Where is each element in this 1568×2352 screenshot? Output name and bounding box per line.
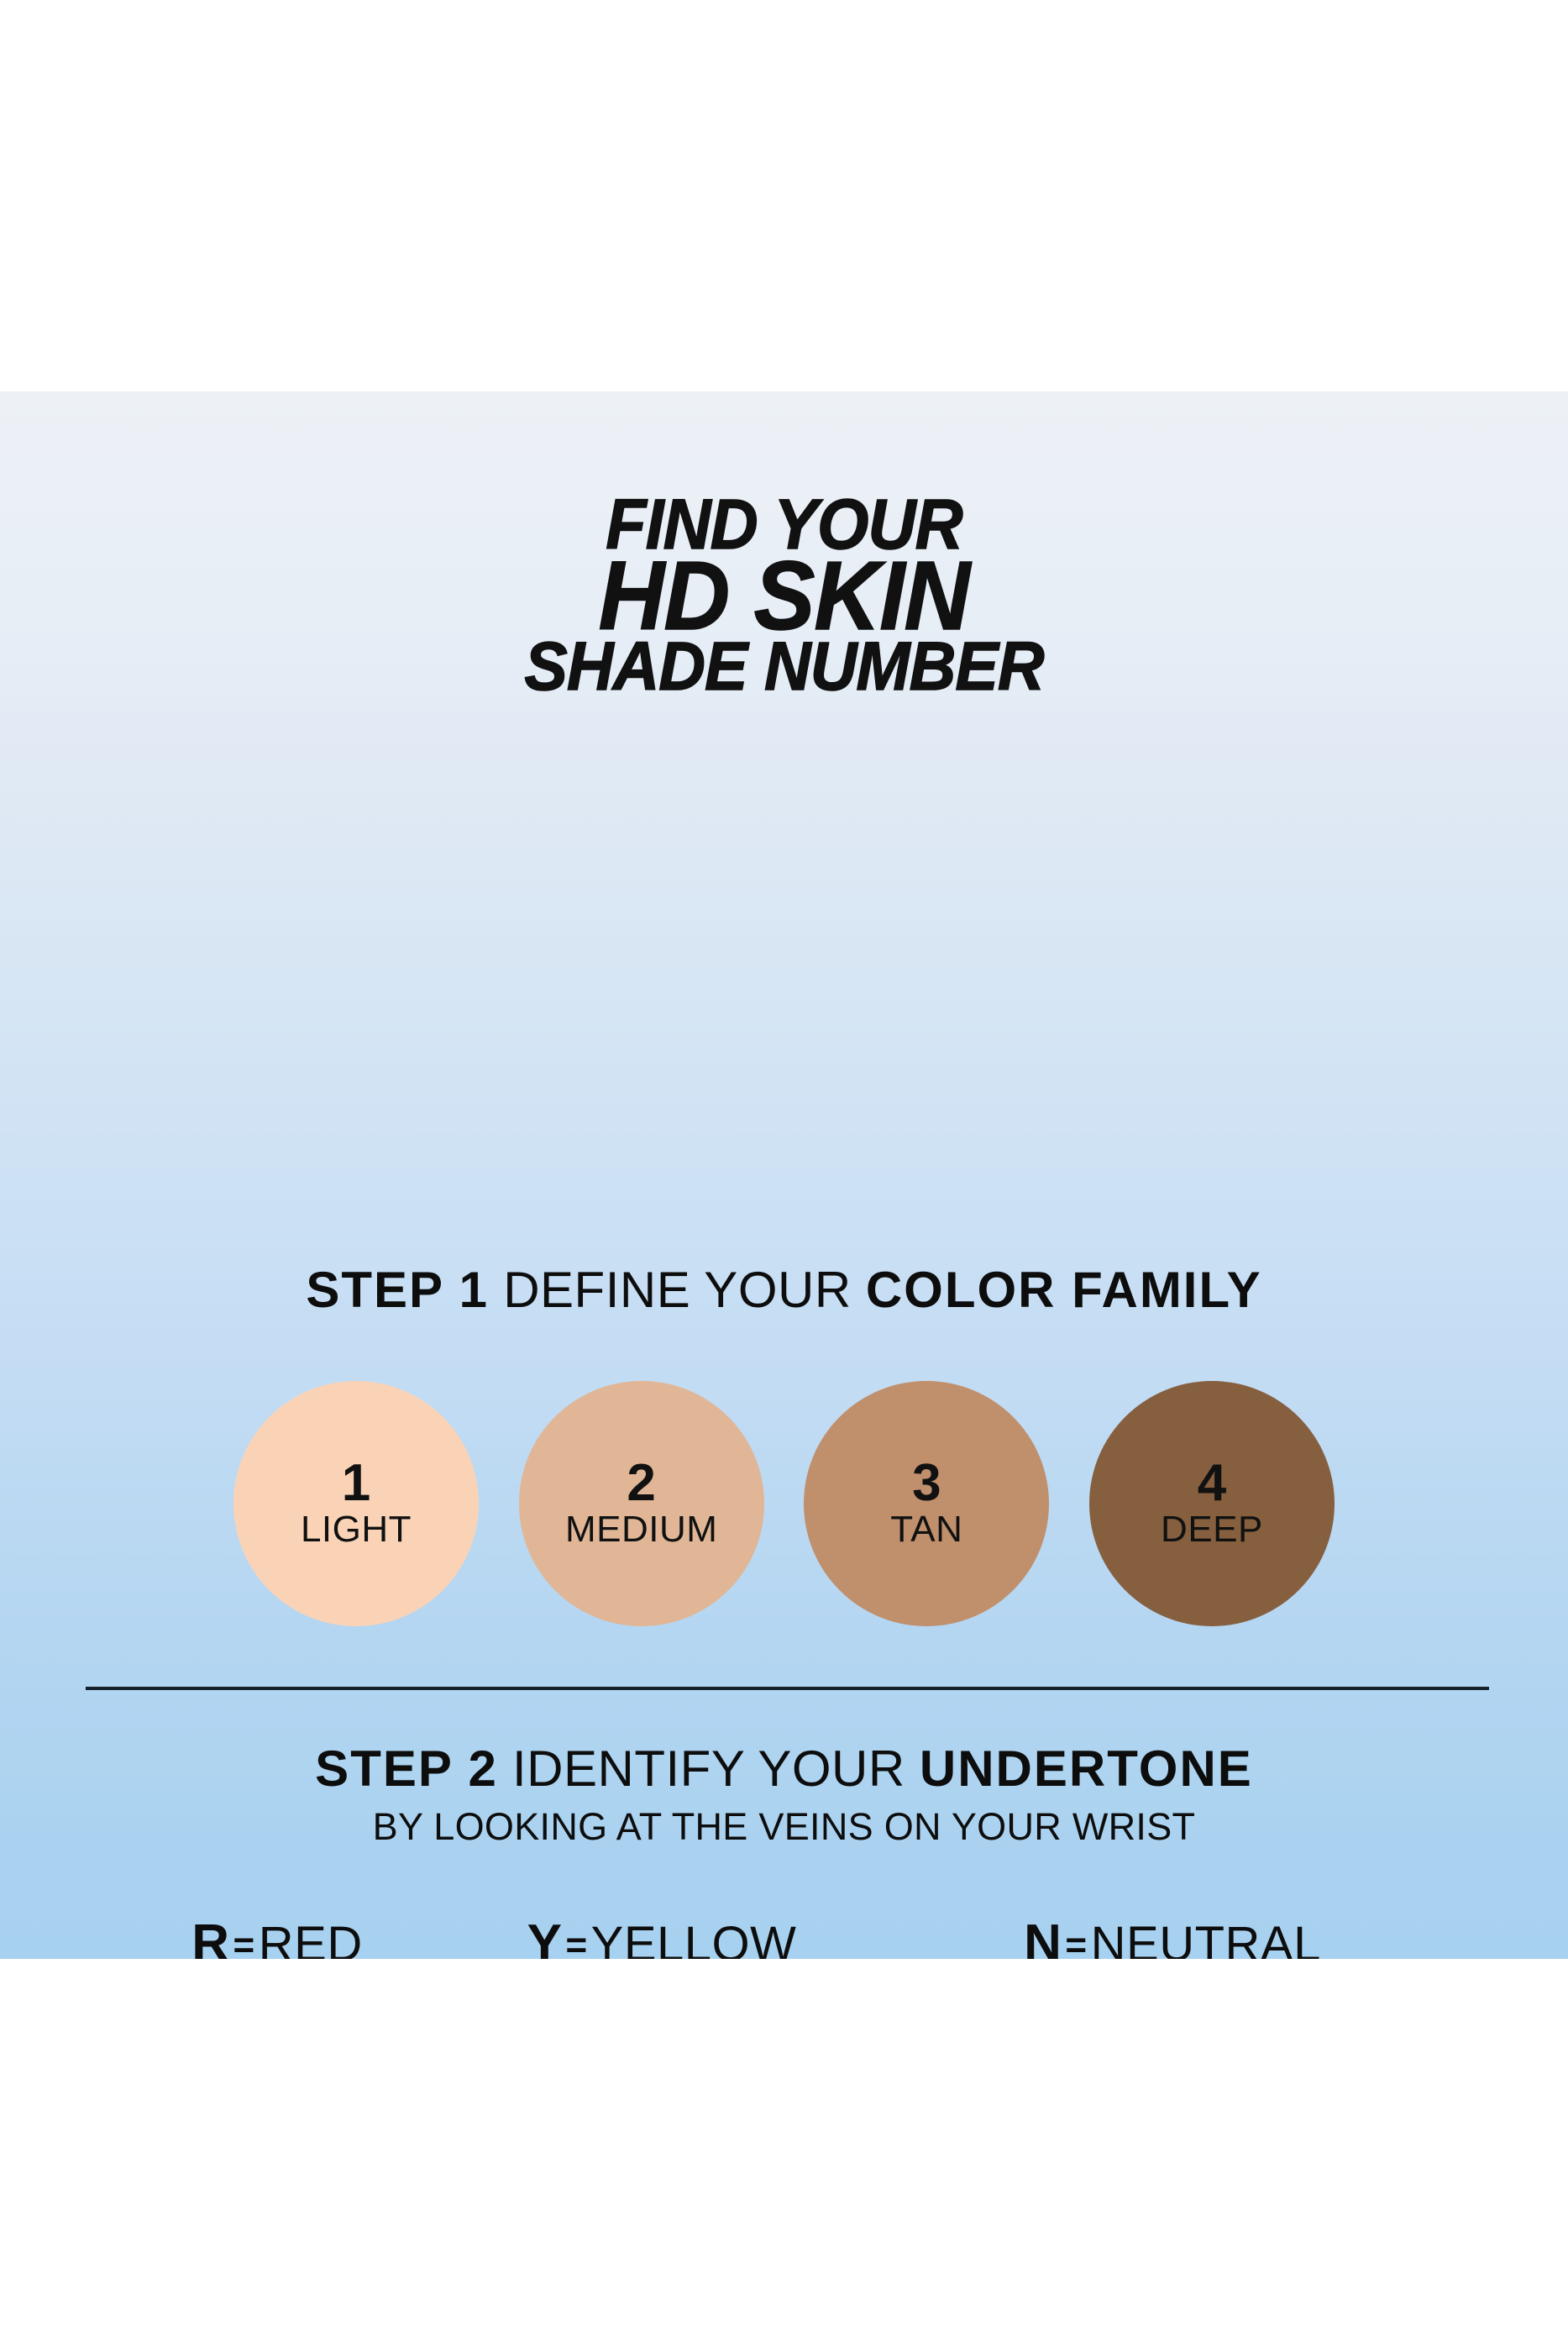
shade-swatch-tan[interactable]: 3 TAN bbox=[804, 1381, 1049, 1626]
shade-category: TAN bbox=[890, 1511, 962, 1548]
shade-swatch-light[interactable]: 1 LIGHT bbox=[233, 1381, 479, 1626]
shade-category: LIGHT bbox=[301, 1511, 412, 1548]
section-divider bbox=[86, 1687, 1489, 1690]
step-1-label: STEP 1 bbox=[306, 1262, 489, 1318]
equals-sign: = bbox=[562, 1924, 590, 1959]
shade-swatch-deep[interactable]: 4 DEEP bbox=[1089, 1381, 1335, 1626]
undertone-name: NEUTRAL bbox=[1091, 1917, 1321, 1959]
step-2-label: STEP 2 bbox=[315, 1740, 498, 1797]
step-1-heading: STEP 1 DEFINE YOUR COLOR FAMILY bbox=[0, 1265, 1568, 1315]
shade-number: 4 bbox=[1198, 1459, 1226, 1509]
gradient-panel: FIND YOUR HD SKIN SHADE NUMBER STEP 1 DE… bbox=[0, 391, 1568, 1959]
step-2-emphasis: UNDERTONE bbox=[920, 1740, 1253, 1797]
step-1-emphasis: COLOR FAMILY bbox=[866, 1262, 1262, 1318]
step-2-action: IDENTIFY YOUR bbox=[512, 1740, 905, 1797]
title-line-3: SHADE NUMBER bbox=[47, 637, 1521, 697]
shade-number: 2 bbox=[627, 1459, 655, 1509]
undertone-title: R=RED bbox=[109, 1917, 445, 1959]
page-title: FIND YOUR HD SKIN SHADE NUMBER bbox=[0, 494, 1568, 697]
step-1-action: DEFINE YOUR bbox=[503, 1262, 851, 1318]
shade-category: MEDIUM bbox=[565, 1511, 717, 1548]
undertone-name: RED bbox=[259, 1917, 363, 1959]
undertone-option-yellow[interactable]: Y=YELLOW YOUR VEINS ARE GREEN bbox=[481, 1917, 842, 1959]
undertone-letter: R bbox=[191, 1914, 229, 1959]
undertone-option-neutral[interactable]: N=NEUTRAL YOUR VEINS ARE BETWEEN BLUE & … bbox=[878, 1917, 1466, 1959]
equals-sign: = bbox=[1062, 1924, 1090, 1959]
undertone-title: Y=YELLOW bbox=[481, 1917, 842, 1959]
shade-swatch-medium[interactable]: 2 MEDIUM bbox=[519, 1381, 764, 1626]
title-line-2: HD SKIN bbox=[47, 553, 1521, 638]
undertone-title: N=NEUTRAL bbox=[878, 1917, 1466, 1959]
step-2-heading: STEP 2 IDENTIFY YOUR UNDERTONE bbox=[0, 1744, 1568, 1794]
shade-number: 3 bbox=[912, 1459, 941, 1509]
shade-family-row: 1 LIGHT 2 MEDIUM 3 TAN 4 DEEP bbox=[233, 1381, 1335, 1626]
undertone-letter: N bbox=[1024, 1914, 1062, 1959]
undertone-row: R=RED YOUR VEINS ARE BLUE Y=YELLOW YOUR … bbox=[101, 1917, 1470, 1959]
shade-number: 1 bbox=[342, 1459, 370, 1509]
equals-sign: = bbox=[230, 1924, 259, 1959]
step-2-subtitle: BY LOOKING AT THE VEINS ON YOUR WRIST bbox=[0, 1805, 1568, 1849]
shade-category: DEEP bbox=[1161, 1511, 1263, 1548]
undertone-option-red[interactable]: R=RED YOUR VEINS ARE BLUE bbox=[109, 1917, 445, 1959]
undertone-letter: Y bbox=[527, 1914, 563, 1959]
infographic-page: FIND YOUR HD SKIN SHADE NUMBER STEP 1 DE… bbox=[0, 0, 1568, 2352]
undertone-name: YELLOW bbox=[591, 1917, 797, 1959]
